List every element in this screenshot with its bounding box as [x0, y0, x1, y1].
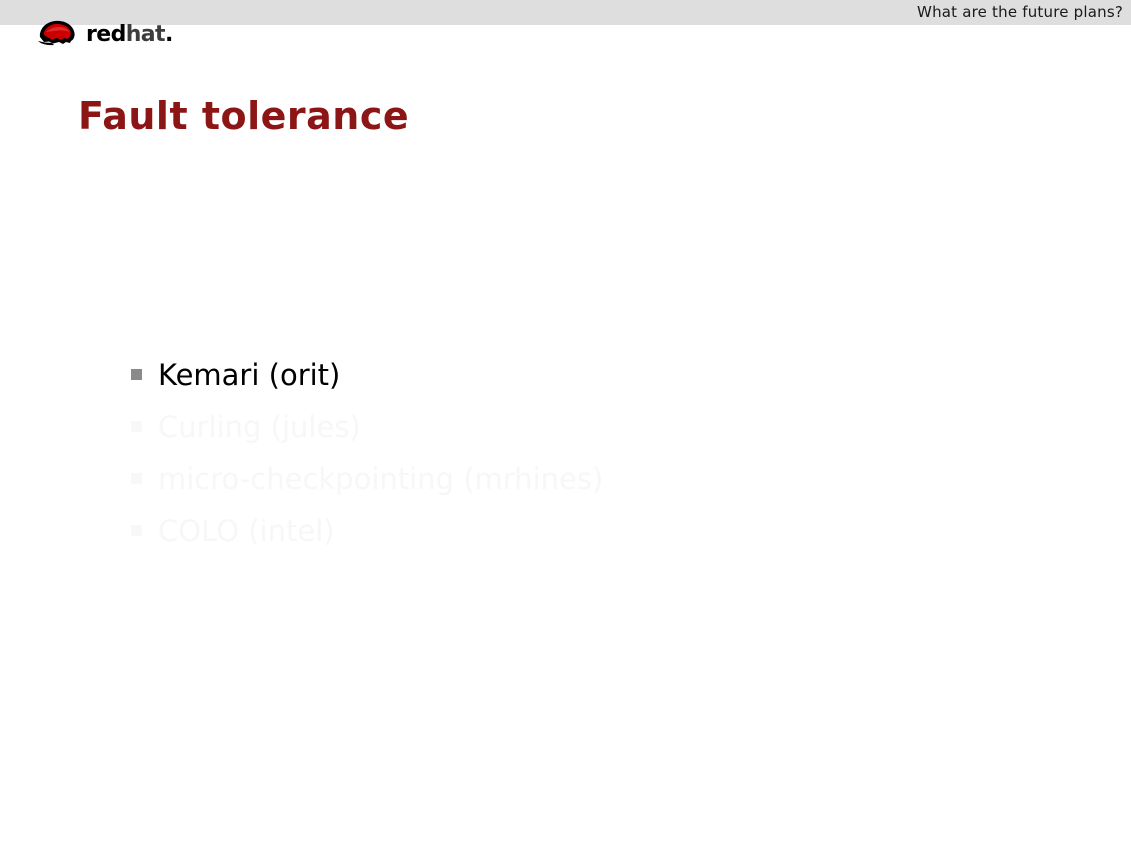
square-bullet-icon [131, 421, 142, 432]
logo-word-red: red [86, 22, 126, 47]
square-bullet-icon [131, 369, 142, 380]
redhat-wordmark: redhat. [86, 23, 173, 47]
logo-word-dot: . [165, 22, 173, 47]
shadowman-icon [34, 17, 82, 47]
list-item-label: micro-checkpointing (mrhines) [158, 462, 603, 496]
list-item-label: Kemari (orit) [158, 358, 340, 392]
list-item: Curling (jules) [131, 410, 1031, 462]
logo-word-hat: hat [126, 22, 165, 47]
page-title: Fault tolerance [78, 93, 409, 139]
square-bullet-icon [131, 525, 142, 536]
list-item: Kemari (orit) [131, 358, 1031, 410]
list-item: COLO (intel) [131, 514, 1031, 566]
list-item: micro-checkpointing (mrhines) [131, 462, 1031, 514]
bullet-list: Kemari (orit) Curling (jules) micro-chec… [131, 358, 1031, 566]
redhat-logo: redhat. [34, 17, 184, 51]
section-title: What are the future plans? [917, 3, 1123, 22]
list-item-label: COLO (intel) [158, 514, 335, 548]
list-item-label: Curling (jules) [158, 410, 361, 444]
square-bullet-icon [131, 473, 142, 484]
presentation-slide: What are the future plans? redhat. Fault… [0, 0, 1131, 848]
